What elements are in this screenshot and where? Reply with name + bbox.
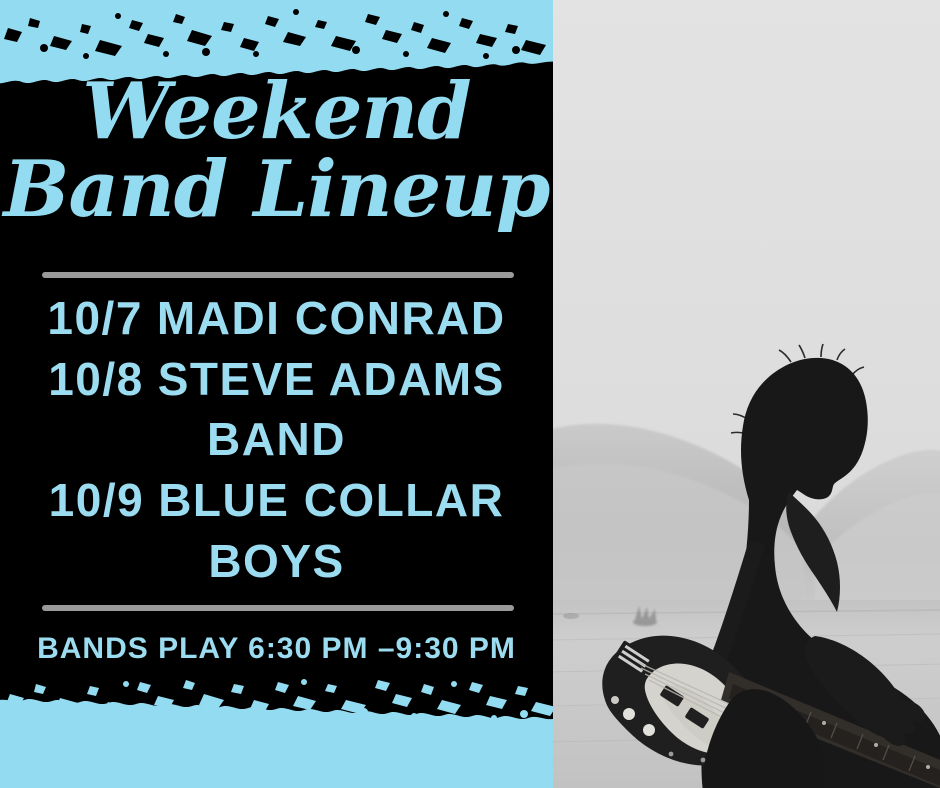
lineup-band: MADI CONRAD	[157, 292, 506, 344]
title-line-1: Weekend	[0, 74, 553, 150]
lineup-date: 10/7	[47, 292, 143, 344]
poster: Weekend Band Lineup 10/7MADI CONRAD 10/8…	[0, 0, 940, 788]
lineup-row: 10/9BLUE COLLAR BOYS	[0, 470, 553, 591]
lineup-row: 10/8STEVE ADAMS BAND	[0, 349, 553, 470]
lineup-band: BLUE COLLAR BOYS	[158, 474, 504, 587]
lineup-row: 10/7MADI CONRAD	[0, 288, 553, 349]
divider-bottom	[42, 605, 514, 611]
info-panel: Weekend Band Lineup 10/7MADI CONRAD 10/8…	[0, 0, 553, 788]
lineup-band: STEVE ADAMS BAND	[158, 353, 505, 466]
poster-title: Weekend Band Lineup	[0, 74, 553, 229]
musician-photo	[553, 0, 940, 788]
showtime-note: BANDS PLAY 6:30 PM –9:30 PM	[0, 632, 553, 666]
title-line-2: Band Lineup	[0, 152, 553, 228]
grunge-edge-bottom-icon	[0, 676, 553, 788]
lineup-list: 10/7MADI CONRAD 10/8STEVE ADAMS BAND 10/…	[0, 288, 553, 592]
lineup-date: 10/9	[49, 474, 145, 526]
divider-top	[42, 272, 514, 278]
lineup-date: 10/8	[48, 353, 144, 405]
